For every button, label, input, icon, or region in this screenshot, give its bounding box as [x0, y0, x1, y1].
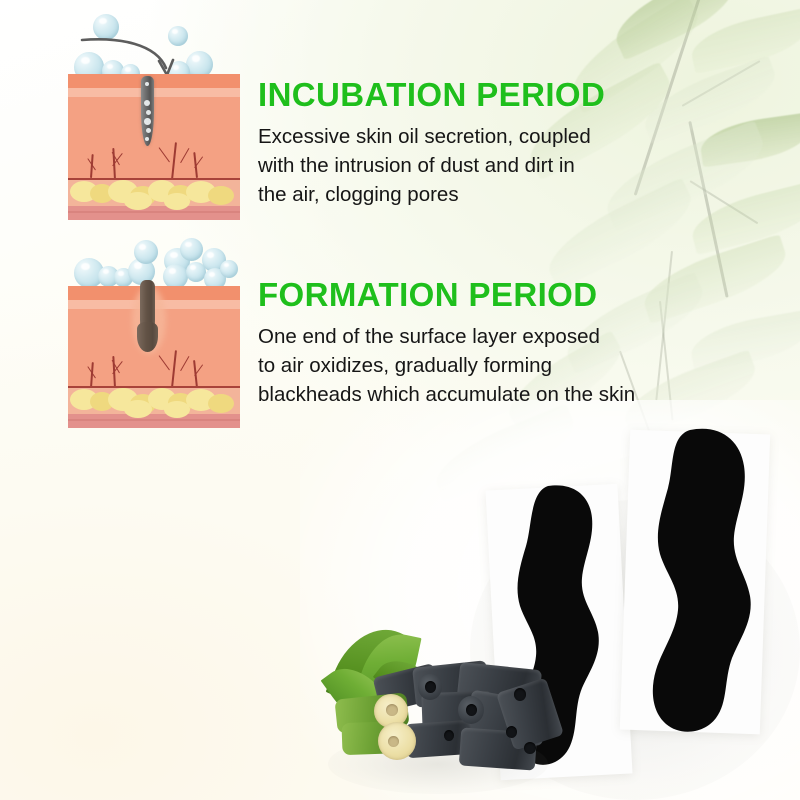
- skin-cross-section-clogged-pore: [68, 4, 240, 220]
- bubble: [134, 240, 158, 264]
- section-heading-formation: FORMATION PERIOD: [258, 276, 597, 314]
- skin-layers: [68, 74, 240, 220]
- section-body-incubation: Excessive skin oil secretion, coupled wi…: [258, 122, 658, 209]
- upper-dermis-layer: [68, 88, 240, 97]
- bubble: [220, 260, 238, 278]
- skin-cross-section-blackhead-plug: [68, 236, 240, 428]
- blood-vessel-line: [68, 178, 240, 180]
- base-layer: [68, 206, 240, 220]
- bamboo-charcoal: [318, 626, 558, 786]
- section-body-formation: One end of the surface layer exposed to …: [258, 322, 698, 409]
- section-heading-incubation: INCUBATION PERIOD: [258, 76, 605, 114]
- blackhead-plug-bulb: [137, 322, 158, 352]
- bubble: [180, 238, 203, 261]
- blood-vessel-line: [68, 386, 240, 388]
- epidermis-layer: [68, 74, 240, 88]
- base-layer-line: [68, 419, 240, 421]
- nose-strip: [620, 424, 790, 744]
- infographic-page: INCUBATION PERIOD Excessive skin oil sec…: [0, 0, 800, 800]
- base-layer: [68, 414, 240, 428]
- base-layer-line: [68, 211, 240, 213]
